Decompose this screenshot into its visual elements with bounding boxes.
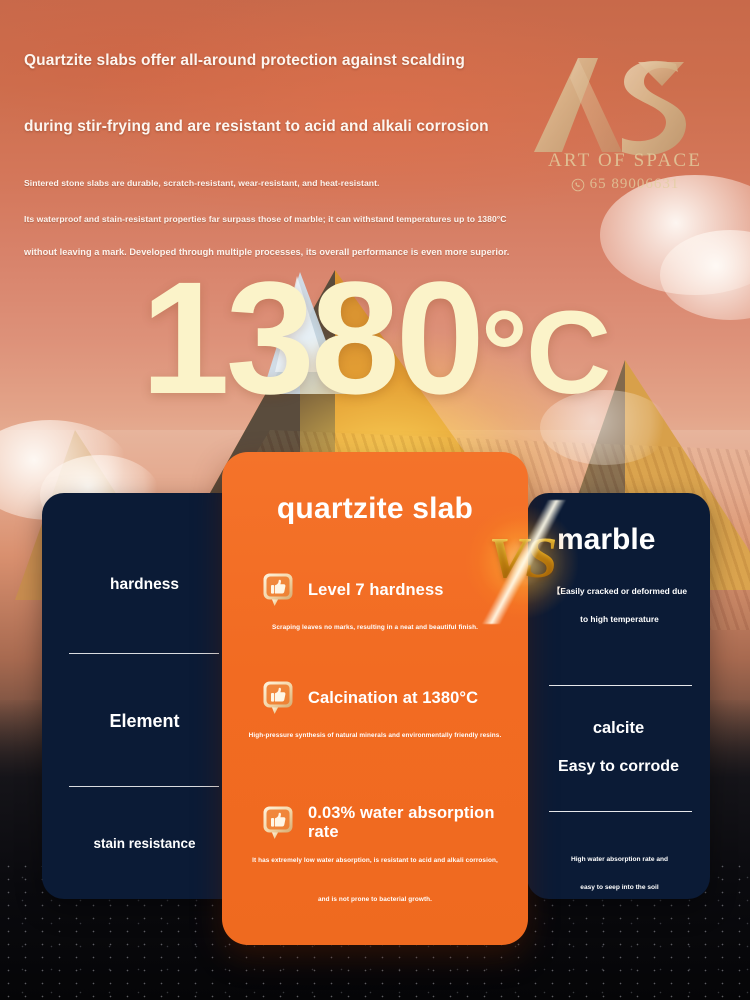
marble-divider: [549, 685, 692, 686]
poster-root: Quartzite slabs offer all-around protect…: [0, 0, 750, 1000]
marble-caption-line-1: 【Easily cracked or deformed due: [532, 585, 707, 597]
marble-divider: [549, 811, 692, 812]
feature-label: Calcination at 1380°C: [308, 689, 478, 708]
quartzite-card-title: quartzite slab: [222, 492, 528, 526]
marble-caption-line-3: High water absorption rate and: [532, 856, 707, 863]
feature-caption: Scraping leaves no marks, resulting in a…: [222, 624, 528, 631]
hero-temperature-unit: °C: [481, 287, 609, 419]
headline-line-1: Quartzite slabs offer all-around protect…: [24, 52, 624, 70]
headline-line-2: during stir-frying and are resistant to …: [24, 118, 624, 136]
feature-item: Calcination at 1380°C: [222, 680, 528, 716]
quartzite-slab-card: quartzite slab: [222, 452, 528, 945]
feature-caption-cont: and is not prone to bacterial growth.: [222, 896, 528, 903]
marble-title: marble: [557, 523, 740, 557]
feature-label: 0.03% water absorption rate: [308, 804, 528, 842]
feature-caption: High-pressure synthesis of natural miner…: [222, 732, 528, 739]
thumbs-up-icon: [262, 805, 296, 841]
feature-label: Level 7 hardness: [308, 581, 444, 600]
subtext-line-1: Sintered stone slabs are durable, scratc…: [24, 178, 644, 188]
attribute-hardness: hardness: [42, 576, 247, 594]
attribute-divider: [69, 653, 219, 654]
marble-corrosion: Easy to corrode: [527, 758, 710, 776]
feature-item: 0.03% water absorption rate: [222, 804, 528, 842]
marble-panel: marble 【Easily cracked or deformed due t…: [527, 493, 710, 899]
marble-mineral: calcite: [527, 719, 710, 738]
feature-item: Level 7 hardness: [222, 572, 528, 608]
marble-caption-line-2: to high temperature: [532, 614, 707, 624]
attribute-stain-resistance: stain resistance: [42, 836, 247, 851]
marble-caption-line-4: easy to seep into the soil: [532, 884, 707, 891]
comparison-attributes-panel: hardness Element stain resistance: [42, 493, 247, 899]
hero-temperature: 1380°C: [0, 258, 750, 418]
attribute-divider: [69, 786, 219, 787]
subtext-line-2: Its waterproof and stain-resistant prope…: [24, 214, 644, 224]
hero-temperature-value: 1380: [141, 248, 481, 427]
feature-caption: It has extremely low water absorption, i…: [222, 857, 528, 864]
thumbs-up-icon: [262, 680, 296, 716]
attribute-element: Element: [42, 711, 247, 732]
thumbs-up-icon: [262, 572, 296, 608]
